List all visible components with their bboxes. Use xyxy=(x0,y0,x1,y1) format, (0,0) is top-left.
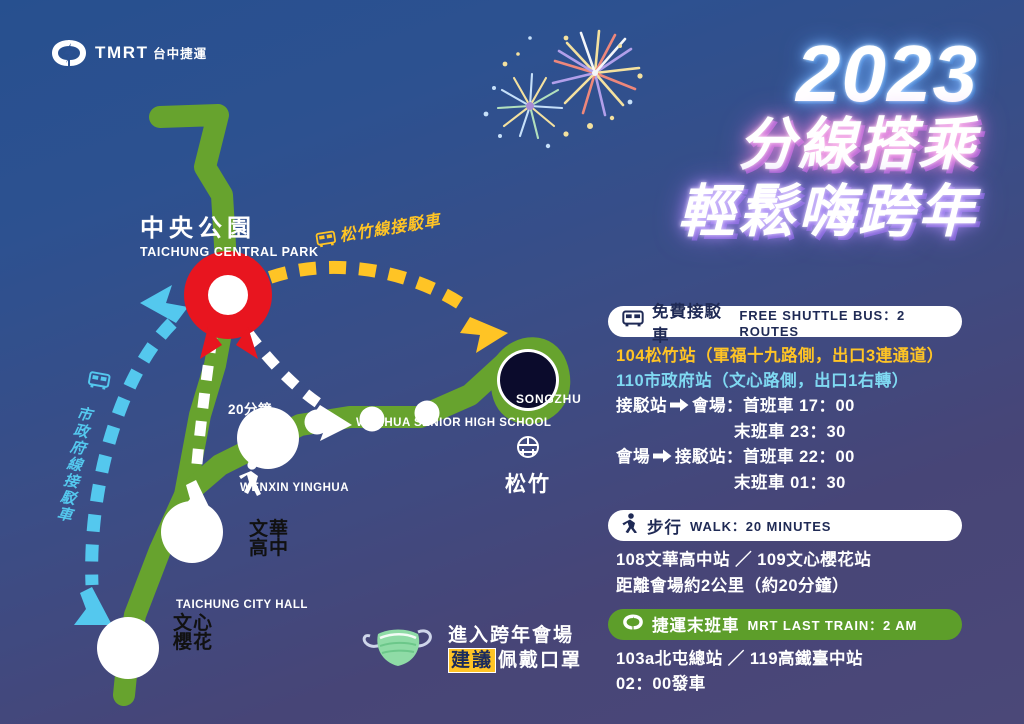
face-mask-icon xyxy=(360,618,438,679)
station-wenxin xyxy=(161,501,223,563)
walk-details: 108文華高中站 ／ 109文心櫻花站 距離會場約2公里（約20分鐘） xyxy=(608,541,962,598)
station-label-city-hall-en: TAICHUNG CITY HALL xyxy=(176,599,308,611)
arrow-right-icon xyxy=(670,395,689,420)
shuttle-stop-songzhu: 104松竹站（軍福十九路側，出口3連通道） xyxy=(616,344,954,369)
section-header-walk: 步行 WALK：20 MINUTES xyxy=(608,510,962,541)
songzhu-arrow-to-station xyxy=(460,317,508,353)
mrt-title-zh: 捷運末班車 xyxy=(652,612,740,636)
walk-duration-label: 20分鐘 xyxy=(228,398,272,418)
station-label-wenhua: 文華高中 xyxy=(246,520,292,559)
station-label-central-park: 中央公園 TAICHUNG CENTRAL PARK xyxy=(140,208,319,259)
mrt-green-line xyxy=(128,115,505,655)
mask-advisory-line-2: 建議佩戴口罩 xyxy=(448,648,582,673)
section-header-mrt-last-train: 捷運末班車 MRT LAST TRAIN：2 AM xyxy=(608,609,962,640)
mask-advisory: 進入跨年會場 建議佩戴口罩 xyxy=(360,618,582,679)
title-year: 2023 xyxy=(678,36,978,112)
transfer-symbol-icon xyxy=(518,437,538,457)
station-label-wenhua-en: WENHUA SENIOR HIGH SCHOOL xyxy=(356,416,551,430)
cityhall-arrow-to-venue xyxy=(140,285,188,323)
tmrt-logo: TMRT 台中捷運 xyxy=(50,38,207,68)
tmrt-logo-icon xyxy=(622,613,644,636)
mask-advisory-line-1: 進入跨年會場 xyxy=(448,625,574,646)
mrt-stations: 103a北屯總站 ／ 119高鐵臺中站 xyxy=(616,647,954,672)
station-label-wenxin: 文心櫻花 xyxy=(170,614,216,653)
station-label-songzhu: 松竹 xyxy=(505,474,551,495)
mrt-title-en: MRT LAST TRAIN：2 AM xyxy=(748,615,918,634)
station-city-hall xyxy=(97,617,159,679)
mrt-departure: 02：00發車 xyxy=(616,672,954,697)
mask-advisory-highlight: 建議 xyxy=(448,648,496,673)
info-panel: 免費接駁車 FREE SHUTTLE BUS：2 ROUTES 104松竹站（軍… xyxy=(608,306,962,697)
logo-text-zh: 台中捷運 xyxy=(153,47,207,61)
poster-title: 2023 分線搭乘 輕鬆嗨跨年 xyxy=(678,36,978,247)
tmrt-logo-icon xyxy=(50,38,88,68)
walk-stations: 108文華高中站 ／ 109文心櫻花站 xyxy=(616,548,954,573)
station-label-songzhu-en: SONGZHU xyxy=(516,392,582,406)
title-line-1: 分線搭乘 xyxy=(678,112,978,179)
station-label-wenxin-en: WENXIN YINGHUA xyxy=(240,481,349,495)
mrt-details: 103a北屯總站 ／ 119高鐵臺中站 02：00發車 xyxy=(608,640,962,697)
bus-icon xyxy=(622,310,644,333)
bus-icon xyxy=(315,230,338,254)
shuttle-schedule-row-4: 末班車 01：30 xyxy=(616,471,954,496)
shuttle-title-zh: 免費接駁車 xyxy=(652,298,731,346)
shuttle-stop-cityhall: 110市政府站（文心路側，出口1右轉） xyxy=(616,369,954,394)
arrow-right-icon xyxy=(653,446,672,471)
shuttle-schedule-row-1: 接駁站 會場：首班車 17：00 xyxy=(616,394,954,420)
title-line-2: 輕鬆嗨跨年 xyxy=(678,179,978,246)
shuttle-schedule-row-3: 會場 接駁站：首班車 22：00 xyxy=(616,445,954,471)
shuttle-title-en: FREE SHUTTLE BUS：2 ROUTES xyxy=(739,305,948,339)
walk-title-zh: 步行 xyxy=(647,514,682,538)
walk-distance: 距離會場約2公里（約20分鐘） xyxy=(616,574,954,599)
walk-title-en: WALK：20 MINUTES xyxy=(690,516,831,535)
cityhall-arrow-to-station xyxy=(74,587,112,625)
walking-person-icon xyxy=(622,513,639,538)
shuttle-schedule-row-2: 末班車 23：30 xyxy=(616,420,954,445)
songzhu-shuttle-route xyxy=(243,267,470,310)
logo-text-en: TMRT xyxy=(95,43,149,62)
shuttle-details: 104松竹站（軍福十九路側，出口3連通道） 110市政府站（文心路側，出口1右轉… xyxy=(608,337,962,496)
section-header-shuttle-bus: 免費接駁車 FREE SHUTTLE BUS：2 ROUTES xyxy=(608,306,962,337)
bus-icon-cityhall xyxy=(88,372,110,395)
